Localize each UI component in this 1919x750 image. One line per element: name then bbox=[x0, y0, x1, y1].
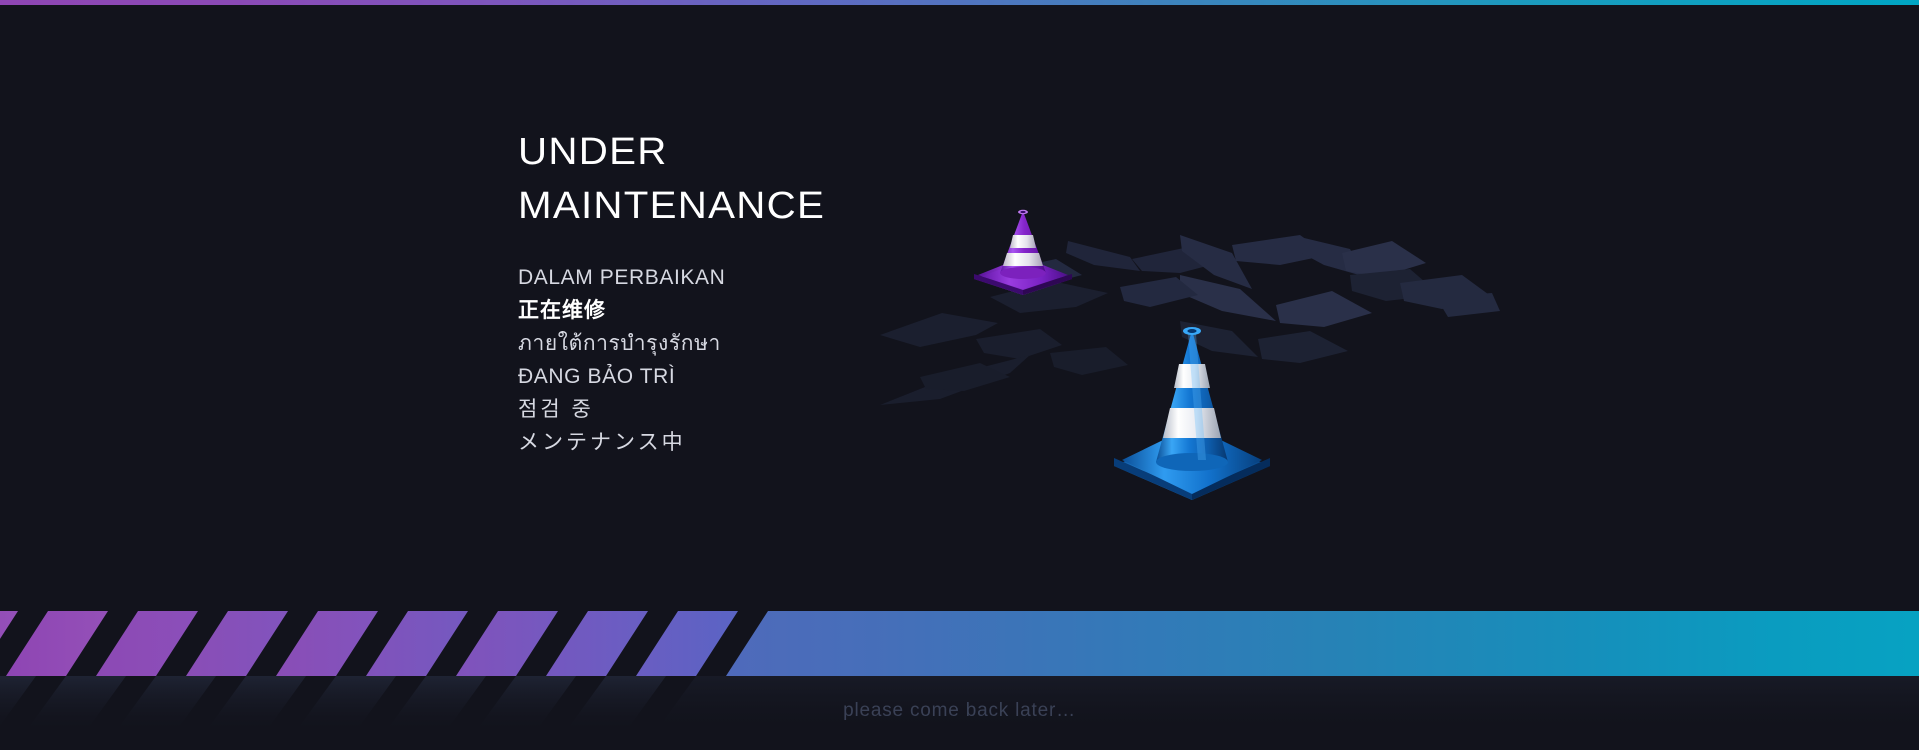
footer-note: please come back later… bbox=[0, 700, 1919, 722]
maintenance-message-block: UNDER MAINTENANCE DALAM PERBAIKAN 正在维修 ภ… bbox=[518, 125, 1218, 459]
translated-messages-list: DALAM PERBAIKAN 正在维修 ภายใต้การบำรุงรักษา… bbox=[518, 261, 1218, 459]
list-item: 正在维修 bbox=[518, 294, 1218, 327]
page-title: UNDER MAINTENANCE bbox=[518, 125, 1260, 233]
list-item: メンテナンス中 bbox=[518, 426, 1218, 459]
list-item: 점검 중 bbox=[518, 393, 1218, 426]
list-item: DALAM PERBAIKAN bbox=[518, 261, 1218, 294]
list-item: ĐANG BẢO TRÌ bbox=[518, 360, 1218, 393]
list-item: ภายใต้การบำรุงรักษา bbox=[518, 327, 1218, 360]
hazard-stripe-band bbox=[0, 606, 1919, 678]
hazard-stripe-band-icon bbox=[0, 606, 1919, 678]
